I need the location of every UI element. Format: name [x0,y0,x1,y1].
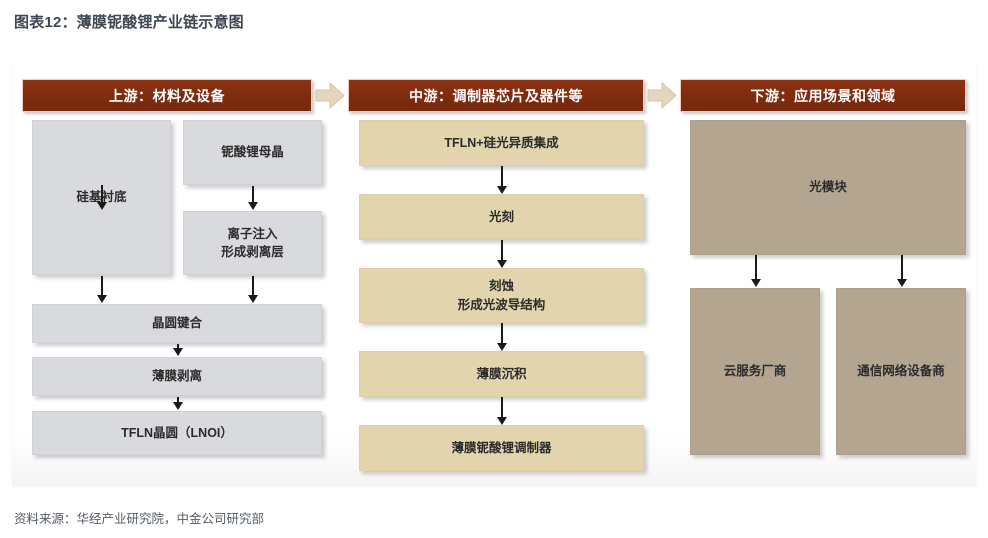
arrow-photolithography-to-etching [496,240,507,268]
node-etching-label: 刻蚀形成光波导结构 [458,277,546,313]
node-wafer-bonding: 晶圆键合 [32,304,322,343]
arrow-etching-to-deposition [496,323,507,351]
arrow-exfoliation-to-tfln-wafer [172,397,183,410]
node-photolithography: 光刻 [359,194,644,240]
arrow-integration-to-photolithography [496,166,507,194]
arrow-boule-down [247,186,258,210]
stage-header-midstream: 中游：调制器芯片及器件等 [348,79,644,112]
node-cloud-providers: 云服务厂商 [690,288,820,455]
arrow-substrate-to-bonding [96,276,107,303]
arrow-ln-boule-to-ion-implantation [96,185,107,210]
chevron-right-icon-upstream-to-midstream [315,81,345,110]
node-tfln-wafer: TFLN晶圆（LNOI） [32,411,322,455]
page-title: 图表12：薄膜铌酸锂产业链示意图 [14,11,244,32]
source-note: 资料来源：华经产业研究院，中金公司研究部 [14,508,264,527]
node-tfln-si-integration: TFLN+硅光异质集成 [359,120,644,166]
chevron-right-icon-midstream-to-downstream [647,81,677,110]
stage-header-downstream: 下游：应用场景和领域 [680,79,966,112]
arrow-deposition-to-modulator [496,397,507,425]
industry-chain-diagram: 上游：材料及设备 中游：调制器芯片及器件等 下游：应用场景和领域 硅基衬底 铌酸… [12,58,976,486]
node-ion-implantation: 离子注入形成剥离层 [183,211,322,275]
node-film-exfoliation: 薄膜剥离 [32,357,322,396]
node-ln-boule: 铌酸锂母晶 [183,120,322,185]
arrow-bonding-to-exfoliation [172,344,183,356]
arrow-module-to-cloud [750,255,761,287]
stage-header-upstream: 上游：材料及设备 [22,79,312,112]
node-tfln-modulator: 薄膜铌酸锂调制器 [359,425,644,471]
node-etching: 刻蚀形成光波导结构 [359,268,644,323]
node-network-equipment: 通信网络设备商 [836,288,966,455]
arrow-module-to-network [896,255,907,287]
arrow-implantation-to-bonding [247,276,258,303]
node-optical-module: 光模块 [690,120,966,255]
node-film-deposition: 薄膜沉积 [359,351,644,397]
